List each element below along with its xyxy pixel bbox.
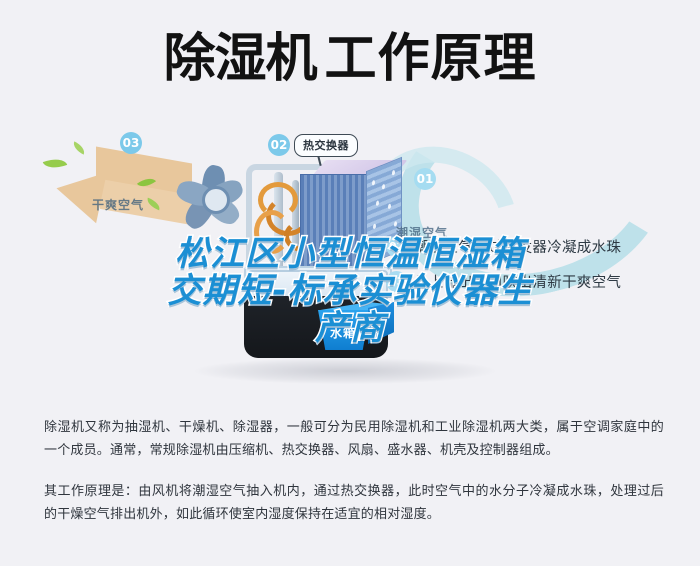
water-tank-icon: 水箱 xyxy=(318,302,394,350)
heat-exchanger-fins xyxy=(300,174,368,268)
title-part2: 工作原理 xyxy=(325,29,537,89)
paragraph-principle: 其工作原理是：由风机将潮湿空气抽入机内，通过热交换器，此时空气中的水分子冷凝成水… xyxy=(44,480,664,526)
arrow-head xyxy=(51,163,107,223)
legend-item: 03 从上部出风口吹出清新干爽空气 xyxy=(386,271,686,292)
diagram-marker-03: 03 xyxy=(120,132,142,154)
legend-label: 从上部出风口吹出清新干爽空气 xyxy=(414,271,621,292)
title-part1: 除湿机 xyxy=(163,29,316,89)
water-tank-label: 水箱 xyxy=(330,324,356,341)
fan-hub xyxy=(202,186,230,214)
diagram-legend: 02 潮湿空气经过蒸发器冷凝成水珠 03 从上部出风口吹出清新干爽空气 xyxy=(386,236,686,306)
legend-item: 02 潮湿空气经过蒸发器冷凝成水珠 xyxy=(386,236,686,257)
page-title: 除湿机工作原理 xyxy=(0,28,700,90)
machine-ground-shadow xyxy=(195,358,495,384)
description-section: 除湿机又称为抽湿机、干燥机、除湿器，一般可分为民用除湿机和工业除湿机两大类，属于… xyxy=(44,416,664,526)
legend-number: 02 xyxy=(386,236,407,257)
title-text: 除湿机工作原理 xyxy=(163,28,536,90)
legend-label: 潮湿空气经过蒸发器冷凝成水珠 xyxy=(414,236,621,257)
legend-number: 03 xyxy=(386,271,407,292)
diagram-marker-02: 02 xyxy=(268,134,290,156)
heat-exchanger-callout: 热交换器 xyxy=(294,134,358,157)
poster-root: 除湿机工作原理 干爽空气 xyxy=(0,0,700,566)
water-tank-side xyxy=(368,302,394,344)
dry-air-arrow-icon xyxy=(56,153,188,229)
diagram-marker-01: 01 xyxy=(414,168,436,190)
paragraph-definition: 除湿机又称为抽湿机、干燥机、除湿器，一般可分为民用除湿机和工业除湿机两大类，属于… xyxy=(44,416,664,462)
dry-air-label: 干爽空气 xyxy=(92,196,144,213)
